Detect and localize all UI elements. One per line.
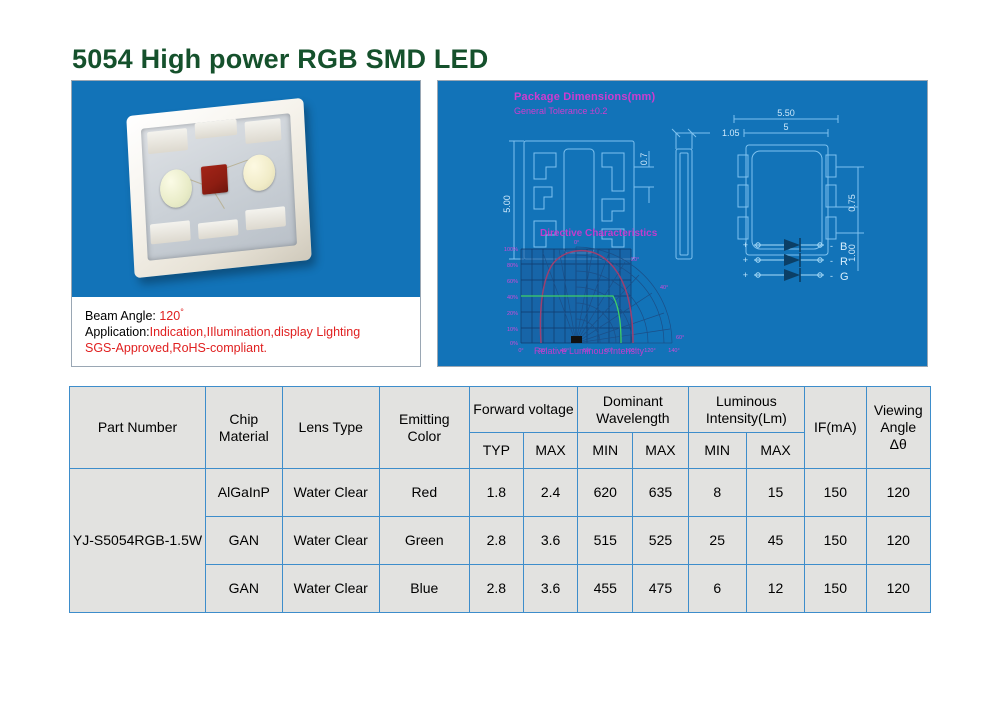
cell-chip-material: AlGaInP: [205, 469, 282, 517]
cell-wl-max: 635: [633, 469, 688, 517]
xtick-140: 140°: [668, 348, 679, 354]
pin-label-g: G: [840, 271, 849, 283]
angle-label-0: 0°: [574, 240, 579, 246]
cell-vf-max: 2.4: [523, 469, 577, 517]
pin-minus-r: -: [830, 256, 833, 266]
compliance-line: SGS-Approved,RoHS-compliant.: [85, 340, 420, 356]
th-chip-material-line1: Chip: [207, 411, 281, 428]
cell-vf-max: 3.6: [523, 565, 577, 613]
pin-label-b: B: [840, 241, 847, 253]
ytick-100: 100%: [504, 247, 518, 253]
th-emitting-color: Emitting Color: [379, 387, 469, 469]
beam-angle-line: Beam Angle: 120°: [85, 304, 420, 324]
dim-pad-width: 1.00: [847, 244, 857, 262]
cell-wl-min: 455: [578, 565, 633, 613]
th-lens-type: Lens Type: [282, 387, 379, 469]
product-photo-panel: Beam Angle: 120° Application:Indication,…: [71, 80, 421, 367]
cell-emitting-color: Red: [379, 469, 469, 517]
specification-table: Part Number Chip Material Lens Type Emit…: [69, 386, 931, 613]
beam-angle-value: 120: [159, 309, 180, 323]
led-die-green: [159, 168, 193, 209]
cell-lens-type: Water Clear: [282, 469, 379, 517]
lead-frame-pad: [245, 118, 282, 144]
th-viewing-angle-line1: Viewing: [868, 402, 930, 419]
cell-part-number: YJ-S5054RGB-1.5W: [70, 469, 206, 613]
lead-frame-pad: [245, 206, 286, 230]
pin-minus-b: -: [830, 241, 833, 251]
th-chip-material-line2: Material: [207, 428, 281, 445]
cell-wl-max: 475: [633, 565, 688, 613]
th-luminous-intensity-line2: Intensity(Lm): [690, 410, 804, 427]
cell-if-ma: 150: [805, 517, 866, 565]
beam-angle-label: Beam Angle:: [85, 309, 159, 323]
cell-vf-typ: 1.8: [469, 469, 523, 517]
cell-lens-type: Water Clear: [282, 565, 379, 613]
th-wl-max: MAX: [633, 433, 688, 469]
cell-chip-material: GAN: [205, 517, 282, 565]
dim-pad-pitch: 0.75: [847, 194, 857, 212]
cell-lm-max: 45: [746, 517, 804, 565]
cell-viewing-angle: 120: [866, 517, 931, 565]
cell-vf-typ: 2.8: [469, 565, 523, 613]
th-forward-voltage: Forward voltage: [469, 387, 577, 433]
pin-plus-r: +: [743, 255, 748, 265]
package-drawing-svg: 5.00 0.7 1.05 5.50 5 0.75 1.00: [438, 81, 929, 368]
ytick-40: 40%: [507, 295, 518, 301]
cell-lm-min: 6: [688, 565, 746, 613]
angle-label-20: 20°: [631, 257, 639, 263]
lead-frame-pad: [198, 219, 239, 239]
pin-minus-g: -: [830, 271, 833, 281]
th-dominant-wavelength-line1: Dominant: [579, 393, 686, 410]
datasheet-page: 5054 High power RGB SMD LED: [0, 0, 1000, 704]
led-die-blue: [242, 153, 276, 192]
cell-if-ma: 150: [805, 565, 866, 613]
photo-caption: Beam Angle: 120° Application:Indication,…: [72, 297, 420, 366]
cell-vf-max: 3.6: [523, 517, 577, 565]
cell-lm-max: 12: [746, 565, 804, 613]
led-product-photo: [72, 81, 420, 299]
cell-emitting-color: Green: [379, 517, 469, 565]
th-lm-min: MIN: [688, 433, 746, 469]
application-value: Indication,IIlumination,display Lighting: [150, 325, 361, 339]
cell-viewing-angle: 120: [866, 469, 931, 517]
cell-emitting-color: Blue: [379, 565, 469, 613]
xtick-0: 0°: [518, 348, 523, 354]
th-emitting-color-line1: Emitting: [381, 411, 468, 428]
dim-outer-width: 5.50: [777, 108, 795, 118]
cell-viewing-angle: 120: [866, 565, 931, 613]
pin-label-r: R: [840, 256, 848, 268]
th-luminous-intensity: Luminous Intensity(Lm): [688, 387, 805, 433]
th-lm-max: MAX: [746, 433, 804, 469]
th-wl-min: MIN: [578, 433, 633, 469]
led-cavity: [141, 113, 297, 261]
cell-lm-min: 8: [688, 469, 746, 517]
th-part-number: Part Number: [70, 387, 206, 469]
pin-legend-group: + - B + - R: [743, 238, 849, 283]
ytick-60: 60%: [507, 279, 518, 285]
package-drawing-panel: Package Dimensions(mm) General Tolerance…: [437, 80, 928, 367]
cell-wl-min: 515: [578, 517, 633, 565]
led-package-body: [126, 98, 312, 279]
table-header: Part Number Chip Material Lens Type Emit…: [70, 387, 931, 469]
cell-vf-typ: 2.8: [469, 517, 523, 565]
th-vf-typ: TYP: [469, 433, 523, 469]
degree-symbol: °: [180, 307, 184, 317]
lead-frame-pad: [195, 119, 238, 139]
dim-side-thickness: 1.05: [722, 128, 740, 138]
xtick-120: 120°: [644, 348, 655, 354]
ytick-10: 10%: [507, 327, 518, 333]
ytick-20: 20%: [507, 311, 518, 317]
dim-notch: 0.7: [639, 153, 649, 166]
th-dominant-wavelength-line2: Wavelength: [579, 410, 686, 427]
ytick-0: 0%: [510, 341, 518, 347]
cell-lm-max: 15: [746, 469, 804, 517]
page-title: 5054 High power RGB SMD LED: [72, 44, 488, 75]
dim-inner-width: 5: [783, 122, 788, 132]
th-viewing-angle: Viewing Angle Δθ: [866, 387, 931, 469]
cell-lm-min: 25: [688, 517, 746, 565]
th-viewing-angle-line2: Angle: [868, 419, 930, 436]
led-die-red: [201, 164, 228, 195]
chart-title: Directive Characteristics: [540, 228, 657, 239]
ytick-80: 80%: [507, 263, 518, 269]
cell-wl-max: 525: [633, 517, 688, 565]
pin-plus-b: +: [743, 240, 748, 250]
table-row: YJ-S5054RGB-1.5W AlGaInP Water Clear Red…: [70, 469, 931, 517]
angle-label-40: 40°: [660, 285, 668, 291]
angle-label-60: 60°: [676, 335, 684, 341]
application-line: Application:Indication,IIlumination,disp…: [85, 324, 420, 340]
lead-frame-pad: [150, 220, 191, 244]
th-luminous-intensity-line1: Luminous: [690, 393, 804, 410]
th-dominant-wavelength: Dominant Wavelength: [578, 387, 688, 433]
th-chip-material: Chip Material: [205, 387, 282, 469]
cell-lens-type: Water Clear: [282, 517, 379, 565]
pin-plus-g: +: [743, 270, 748, 280]
th-emitting-color-line2: Color: [381, 428, 468, 445]
lead-frame-pad: [147, 128, 188, 154]
chart-xlabel: Relative Luminous Intensity: [534, 346, 644, 356]
cell-wl-min: 620: [578, 469, 633, 517]
th-if-ma: IF(mA): [805, 387, 866, 469]
cell-if-ma: 150: [805, 469, 866, 517]
dim-height-left: 5.00: [502, 195, 512, 213]
directive-characteristics-chart: 100% 80% 60% 40% 20% 10% 0% 0° 20° 40° 6…: [504, 240, 684, 354]
table-header-row-main: Part Number Chip Material Lens Type Emit…: [70, 387, 931, 433]
bond-wire: [214, 192, 225, 209]
table-body: YJ-S5054RGB-1.5W AlGaInP Water Clear Red…: [70, 469, 931, 613]
th-vf-max: MAX: [523, 433, 577, 469]
cell-chip-material: GAN: [205, 565, 282, 613]
th-delta-theta-symbol: Δθ: [868, 436, 930, 453]
application-label: Application:: [85, 325, 150, 339]
